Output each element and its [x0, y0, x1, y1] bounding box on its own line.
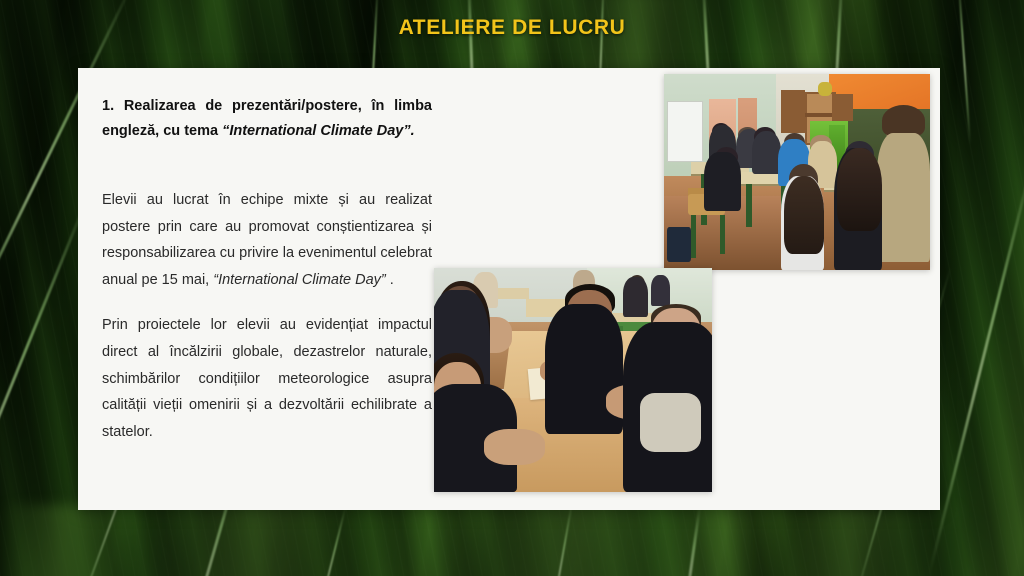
content-card: 1. Realizarea de prezentări/postere, în …: [78, 68, 940, 510]
classroom-group-photo: [664, 74, 930, 270]
presentation-slide: ATELIERE DE LUCRU 1. Realizarea de preze…: [0, 0, 1024, 576]
paragraph-2-tail: .: [386, 272, 394, 288]
activity-heading-quote: “International Climate Day”.: [222, 123, 415, 139]
text-column: 1. Realizarea de prezentări/postere, în …: [102, 94, 432, 464]
activity-heading: 1. Realizarea de prezentări/postere, în …: [102, 94, 432, 145]
paragraph-students-worked: Elevii au lucrat în echipe mixte și au r…: [102, 187, 432, 294]
paragraph-2-quote: “International Climate Day”: [213, 272, 385, 288]
classroom-photo-scene: [664, 74, 930, 270]
slide-title: ATELIERE DE LUCRU: [0, 16, 1024, 40]
table-photo-scene: [434, 268, 712, 492]
paragraph-projects-impact: Prin proiectele lor elevii au evidențiat…: [102, 312, 432, 446]
students-at-table-photo: [434, 268, 712, 492]
